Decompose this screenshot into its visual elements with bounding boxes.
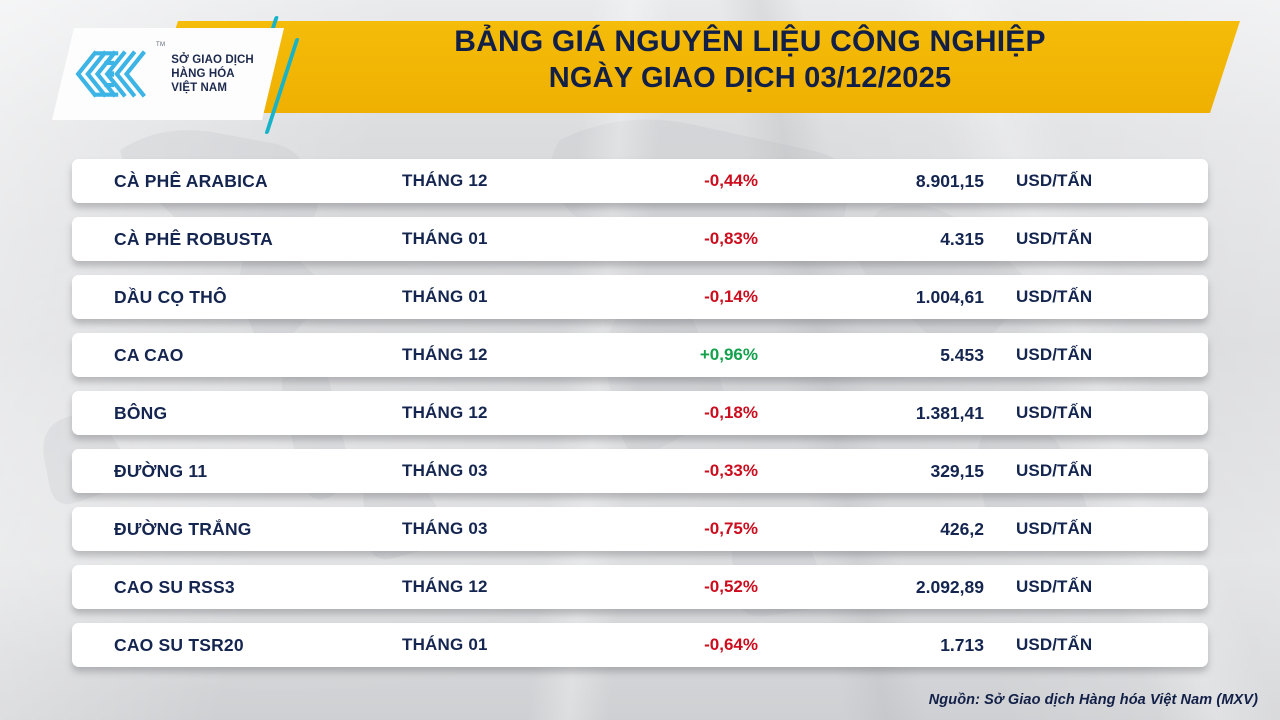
contract-month: THÁNG 12 xyxy=(402,171,592,191)
price-unit: USD/TẤN xyxy=(990,635,1160,655)
price-value: 4.315 xyxy=(782,229,990,250)
price-change: -0,52% xyxy=(592,577,782,597)
brand-logo-card: TM SỞ GIAO DỊCH HÀNG HÓA VIỆT NAM xyxy=(52,28,284,120)
price-value: 329,15 xyxy=(782,461,990,482)
table-row[interactable]: CA CAOTHÁNG 12+0,96%5.453USD/TẤN xyxy=(72,333,1208,377)
price-unit: USD/TẤN xyxy=(990,519,1160,539)
mxv-maze-logo-icon xyxy=(74,47,150,101)
table-row[interactable]: CAO SU RSS3THÁNG 12-0,52%2.092,89USD/TẤN xyxy=(72,565,1208,609)
price-value: 1.713 xyxy=(782,635,990,656)
price-change: -0,33% xyxy=(592,461,782,481)
brand-line-3: VIỆT NAM xyxy=(171,82,227,94)
brand-name: SỞ GIAO DỊCH HÀNG HÓA VIỆT NAM xyxy=(171,53,254,95)
contract-month: THÁNG 01 xyxy=(402,287,592,307)
price-unit: USD/TẤN xyxy=(990,345,1160,365)
price-change: -0,44% xyxy=(592,171,782,191)
contract-month: THÁNG 12 xyxy=(402,403,592,423)
contract-month: THÁNG 12 xyxy=(402,577,592,597)
page-root: TM SỞ GIAO DỊCH HÀNG HÓA VIỆT NAM BẢNG G… xyxy=(0,0,1280,720)
price-change: -0,83% xyxy=(592,229,782,249)
commodity-name: CÀ PHÊ ROBUSTA xyxy=(72,229,402,250)
commodity-name: CÀ PHÊ ARABICA xyxy=(72,171,402,192)
price-unit: USD/TẤN xyxy=(990,403,1160,423)
price-change: -0,14% xyxy=(592,287,782,307)
table-row[interactable]: ĐƯỜNG TRẮNGTHÁNG 03-0,75%426,2USD/TẤN xyxy=(72,507,1208,551)
page-title: BẢNG GIÁ NGUYÊN LIỆU CÔNG NGHIỆP NGÀY GI… xyxy=(300,24,1200,95)
brand-line-2: HÀNG HÓA xyxy=(171,68,234,80)
commodity-name: ĐƯỜNG 11 xyxy=(72,461,402,482)
contract-month: THÁNG 01 xyxy=(402,635,592,655)
table-row[interactable]: CÀ PHÊ ARABICATHÁNG 12-0,44%8.901,15USD/… xyxy=(72,159,1208,203)
table-row[interactable]: BÔNGTHÁNG 12-0,18%1.381,41USD/TẤN xyxy=(72,391,1208,435)
price-unit: USD/TẤN xyxy=(990,287,1160,307)
commodity-name: CAO SU TSR20 xyxy=(72,635,402,656)
trademark-symbol: TM xyxy=(156,42,165,48)
price-unit: USD/TẤN xyxy=(990,461,1160,481)
contract-month: THÁNG 01 xyxy=(402,229,592,249)
source-note: Nguồn: Sở Giao dịch Hàng hóa Việt Nam (M… xyxy=(929,692,1258,708)
contract-month: THÁNG 03 xyxy=(402,519,592,539)
price-value: 5.453 xyxy=(782,345,990,366)
price-unit: USD/TẤN xyxy=(990,577,1160,597)
price-unit: USD/TẤN xyxy=(990,229,1160,249)
commodity-name: ĐƯỜNG TRẮNG xyxy=(72,519,402,540)
price-value: 1.381,41 xyxy=(782,403,990,424)
title-secondary: NGÀY GIAO DỊCH 03/12/2025 xyxy=(300,61,1200,96)
commodity-name: CA CAO xyxy=(72,345,402,366)
price-unit: USD/TẤN xyxy=(990,171,1160,191)
price-value: 2.092,89 xyxy=(782,577,990,598)
commodity-name: DẦU CỌ THÔ xyxy=(72,287,402,308)
contract-month: THÁNG 12 xyxy=(402,345,592,365)
commodity-name: BÔNG xyxy=(72,403,402,424)
title-primary: BẢNG GIÁ NGUYÊN LIỆU CÔNG NGHIỆP xyxy=(300,24,1200,61)
table-row[interactable]: CAO SU TSR20THÁNG 01-0,64%1.713USD/TẤN xyxy=(72,623,1208,667)
brand-line-1: SỞ GIAO DỊCH xyxy=(171,54,254,66)
contract-month: THÁNG 03 xyxy=(402,461,592,481)
page-header: TM SỞ GIAO DỊCH HÀNG HÓA VIỆT NAM BẢNG G… xyxy=(0,8,1280,118)
table-row[interactable]: CÀ PHÊ ROBUSTATHÁNG 01-0,83%4.315USD/TẤN xyxy=(72,217,1208,261)
price-change: -0,75% xyxy=(592,519,782,539)
price-change: -0,64% xyxy=(592,635,782,655)
table-row[interactable]: ĐƯỜNG 11THÁNG 03-0,33%329,15USD/TẤN xyxy=(72,449,1208,493)
commodity-name: CAO SU RSS3 xyxy=(72,577,402,598)
price-value: 1.004,61 xyxy=(782,287,990,308)
price-table: CÀ PHÊ ARABICATHÁNG 12-0,44%8.901,15USD/… xyxy=(72,159,1208,681)
table-row[interactable]: DẦU CỌ THÔTHÁNG 01-0,14%1.004,61USD/TẤN xyxy=(72,275,1208,319)
price-change: -0,18% xyxy=(592,403,782,423)
price-value: 8.901,15 xyxy=(782,171,990,192)
price-change: +0,96% xyxy=(592,345,782,365)
price-value: 426,2 xyxy=(782,519,990,540)
